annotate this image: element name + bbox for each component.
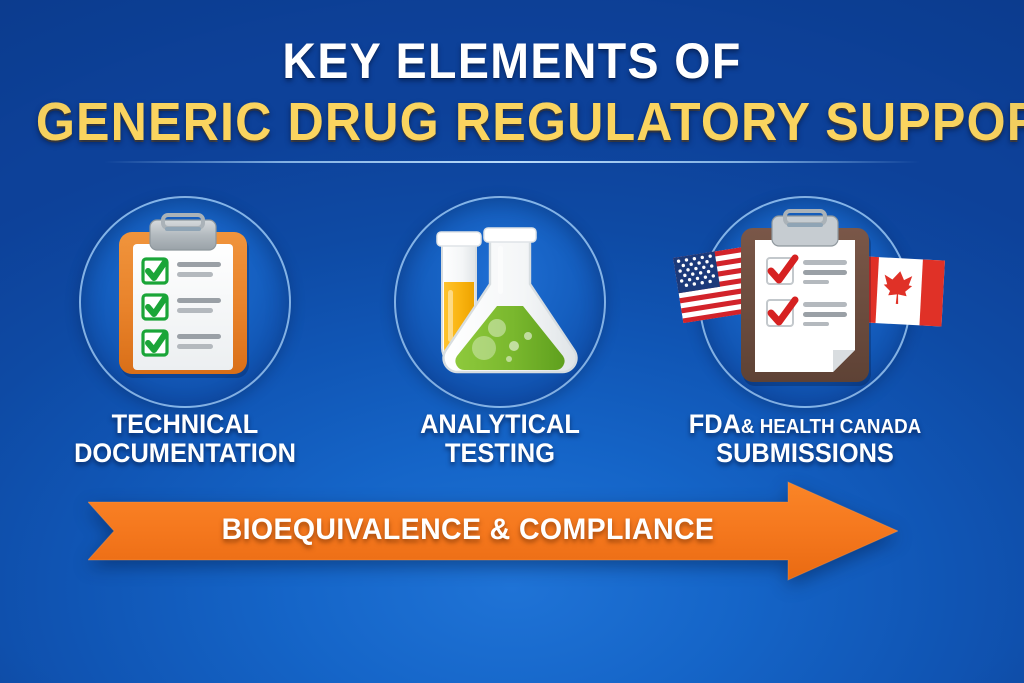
caption-line: SUBMISSIONS bbox=[659, 439, 950, 468]
caption-line: TECHNICAL bbox=[44, 410, 326, 439]
caption-line: ANALYTICAL bbox=[364, 410, 637, 439]
caption-fda: FDA bbox=[689, 409, 741, 439]
caption-technical-documentation: TECHNICAL DOCUMENTATION bbox=[44, 410, 326, 468]
caption-line: DOCUMENTATION bbox=[44, 439, 326, 468]
banner-label: BIOEQUIVALENCE & COMPLIANCE bbox=[107, 513, 829, 547]
caption-line: FDA& HEALTH CANADA bbox=[659, 410, 950, 439]
caption-fda-health-canada-submissions: FDA& HEALTH CANADA SUBMISSIONS bbox=[659, 410, 950, 468]
clipboard-flags-icon bbox=[665, 196, 945, 408]
caption-line: TESTING bbox=[364, 439, 637, 468]
infographic-canvas: KEY ELEMENTS OF GENERIC DRUG REGULATORY … bbox=[0, 0, 1024, 683]
clipboard-checklist-icon bbox=[79, 196, 291, 408]
caption-analytical-testing: ANALYTICAL TESTING bbox=[364, 410, 637, 468]
caption-health-canada: & HEALTH CANADA bbox=[741, 416, 921, 438]
test-tube-flask-icon bbox=[394, 196, 606, 408]
page-title: KEY ELEMENTS OF GENERIC DRUG REGULATORY … bbox=[0, 34, 1024, 152]
title-line-2: GENERIC DRUG REGULATORY SUPPORT bbox=[36, 92, 988, 152]
title-divider bbox=[104, 161, 920, 163]
title-line-1: KEY ELEMENTS OF bbox=[36, 34, 988, 88]
